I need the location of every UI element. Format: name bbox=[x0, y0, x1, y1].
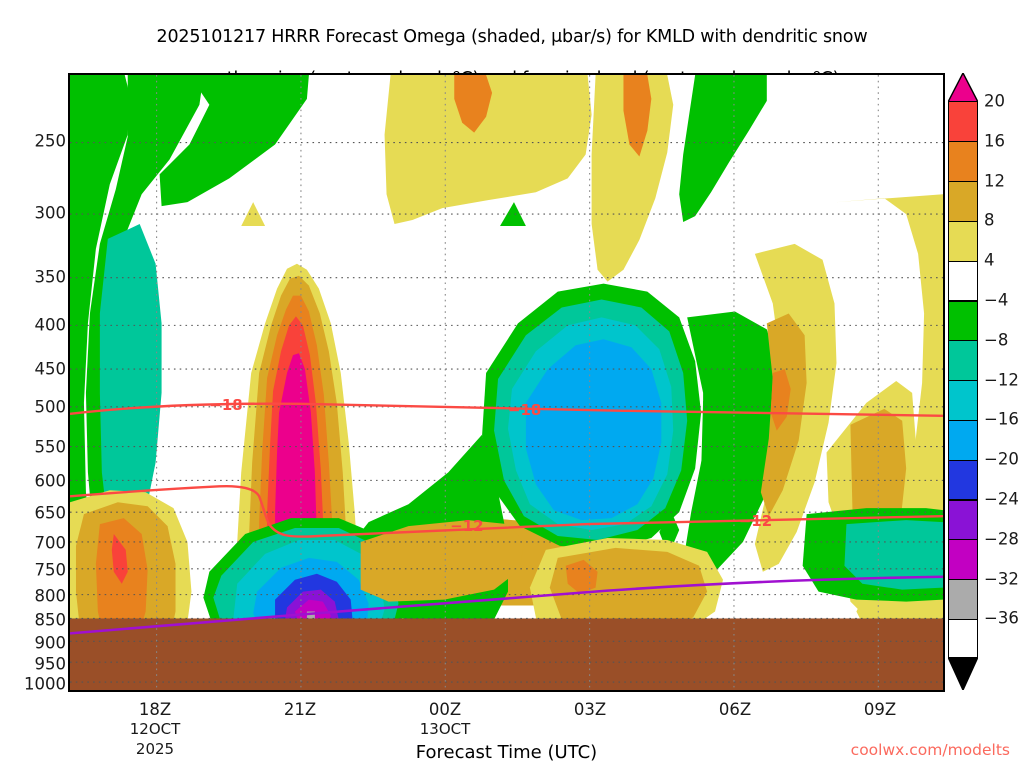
red-contour-label-12b: −12 bbox=[739, 512, 772, 530]
y-tick-400: 400 bbox=[4, 316, 66, 335]
y-tick-500: 500 bbox=[4, 398, 66, 417]
cb-label-16: 16 bbox=[984, 131, 1005, 150]
y-axis-labels: 250 300 350 400 450 500 550 600 650 700 … bbox=[0, 0, 66, 768]
y-tick-350: 350 bbox=[4, 268, 66, 287]
cb-label-m12: −12 bbox=[984, 370, 1019, 389]
y-tick-650: 650 bbox=[4, 504, 66, 523]
cb-label-m16: −16 bbox=[984, 410, 1019, 429]
y-tick-850: 850 bbox=[4, 611, 66, 630]
y-tick-1000: 1000 bbox=[4, 675, 66, 694]
plot-area: −18 −18 −12 −12 bbox=[68, 73, 945, 692]
cb-label-m32: −32 bbox=[984, 569, 1019, 588]
x-tick-18z-date: 12OCT bbox=[130, 720, 181, 738]
x-tick-00z-date: 13OCT bbox=[420, 720, 471, 738]
chart-page: 2025101217 HRRR Forecast Omega (shaded, … bbox=[0, 0, 1024, 768]
cb-label-m28: −28 bbox=[984, 529, 1019, 548]
y-tick-750: 750 bbox=[4, 561, 66, 580]
x-tick-21z: 21Z bbox=[284, 700, 316, 719]
cb-label-m24: −24 bbox=[984, 490, 1019, 509]
red-contour-label-18b: −18 bbox=[508, 401, 541, 419]
x-tick-03z: 03Z bbox=[574, 700, 606, 719]
y-tick-300: 300 bbox=[4, 204, 66, 223]
y-tick-950: 950 bbox=[4, 655, 66, 674]
red-contour-label-18a: −18 bbox=[209, 396, 242, 414]
y-tick-900: 900 bbox=[4, 634, 66, 653]
y-tick-700: 700 bbox=[4, 534, 66, 553]
y-tick-550: 550 bbox=[4, 438, 66, 457]
y-tick-600: 600 bbox=[4, 472, 66, 491]
cb-label-m20: −20 bbox=[984, 450, 1019, 469]
x-tick-18z: 18Z bbox=[139, 700, 171, 719]
x-tick-09z: 09Z bbox=[864, 700, 896, 719]
y-tick-800: 800 bbox=[4, 587, 66, 606]
colorbar-labels: 20 16 12 8 4 −4 −8 −12 −16 −20 −24 −28 −… bbox=[948, 73, 1024, 692]
cb-label-4: 4 bbox=[984, 251, 995, 270]
x-tick-06z: 06Z bbox=[719, 700, 751, 719]
x-tick-00z: 00Z bbox=[429, 700, 461, 719]
terrain-fill bbox=[70, 618, 943, 690]
y-tick-250: 250 bbox=[4, 132, 66, 151]
cb-label-m8: −8 bbox=[984, 330, 1008, 349]
red-contour-label-12a: −12 bbox=[450, 517, 483, 535]
x-axis-title: Forecast Time (UTC) bbox=[68, 742, 945, 763]
y-tick-450: 450 bbox=[4, 360, 66, 379]
watermark: coolwx.com/modelts bbox=[851, 741, 1010, 759]
title-line-1: 2025101217 HRRR Forecast Omega (shaded, … bbox=[157, 27, 868, 47]
cb-label-12: 12 bbox=[984, 171, 1005, 190]
cb-label-20: 20 bbox=[984, 92, 1005, 111]
omega-cross-section-svg: −18 −18 −12 −12 bbox=[70, 75, 943, 690]
cb-label-8: 8 bbox=[984, 211, 995, 230]
cb-label-m36: −36 bbox=[984, 609, 1019, 628]
cb-label-m4: −4 bbox=[984, 291, 1008, 310]
